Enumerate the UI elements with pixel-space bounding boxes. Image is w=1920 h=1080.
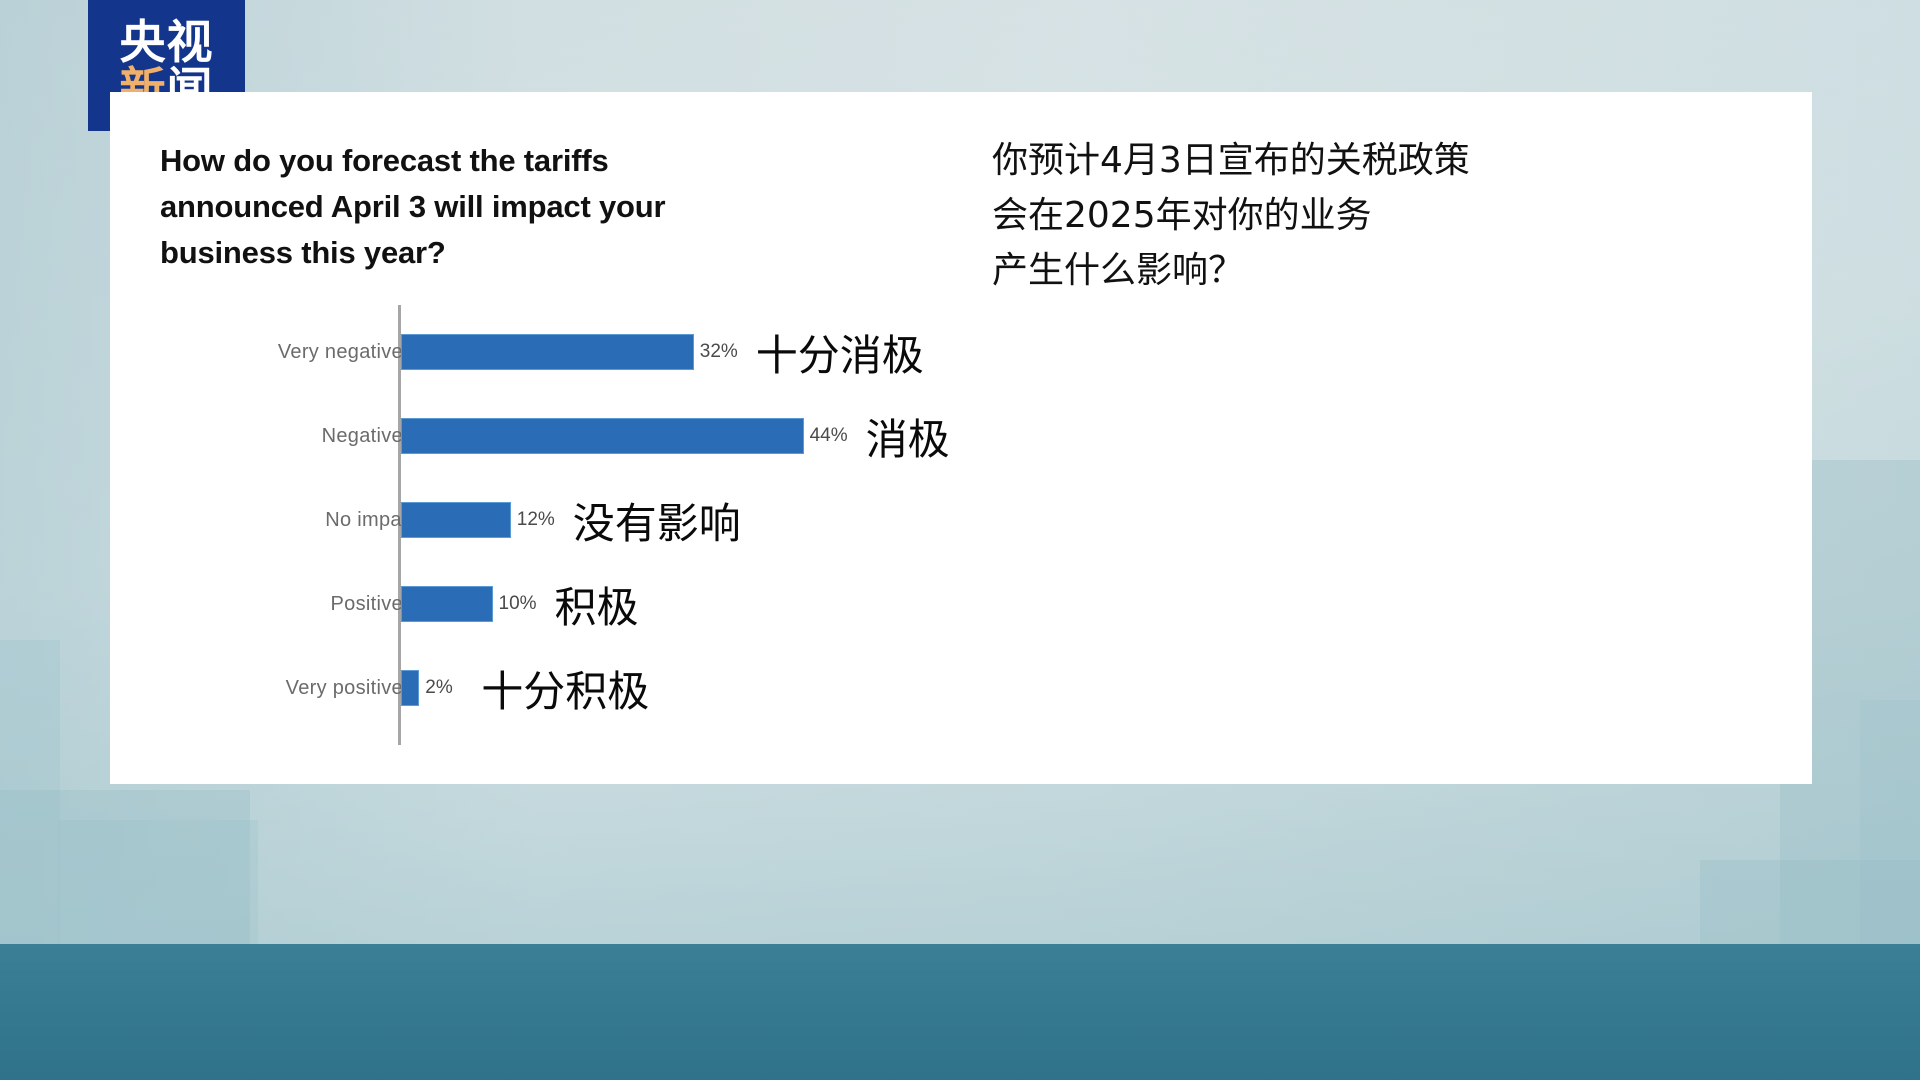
chart-row: No impact 12% 没有影响 bbox=[160, 494, 1160, 546]
chart-title-line-2: announced April 3 will impact your bbox=[160, 184, 760, 230]
chart-title: How do you forecast the tariffs announce… bbox=[160, 138, 760, 276]
chinese-question: 你预计4月3日宣布的关税政策 会在2025年对你的业务 产生什么影响？ bbox=[992, 133, 1692, 298]
background-water-band bbox=[0, 944, 1920, 1080]
chart-bar-value-label: 32% bbox=[700, 326, 738, 378]
chart-bar-value-label: 12% bbox=[517, 494, 555, 546]
chart-row: Negatively 44% 消极 bbox=[160, 410, 1160, 462]
chinese-question-line-1: 你预计4月3日宣布的关税政策 bbox=[992, 133, 1692, 188]
chart-category-label: Very negatively bbox=[278, 326, 418, 378]
chart-bar-value-label: 10% bbox=[499, 578, 537, 630]
chart-bar-value-label: 2% bbox=[425, 662, 452, 714]
chart-row: Very positively 2% 十分积极 bbox=[160, 662, 1160, 714]
chart-bar bbox=[401, 334, 694, 370]
chart-bar bbox=[401, 670, 419, 706]
chart-row: Very negatively 32% 十分消极 bbox=[160, 326, 1160, 378]
chart-category-label-cn: 没有影响 bbox=[573, 494, 741, 546]
chart-row: Positively 10% 积极 bbox=[160, 578, 1160, 630]
chart-bar bbox=[401, 418, 804, 454]
chart-bar bbox=[401, 586, 493, 622]
screenshot-stage: 央视 新闻 How do you forecast the tariffs an… bbox=[0, 0, 1920, 1080]
chart-bar-value-label: 44% bbox=[810, 410, 848, 462]
chinese-question-line-3: 产生什么影响？ bbox=[992, 243, 1692, 298]
chart-category-label-cn: 消极 bbox=[866, 410, 950, 462]
chart-category-label-cn: 十分消极 bbox=[756, 326, 924, 378]
chart-category-label-cn: 十分积极 bbox=[481, 662, 649, 714]
chart-category-label-cn: 积极 bbox=[555, 578, 639, 630]
chart-category-label: Very positively bbox=[286, 662, 418, 714]
chart-bar bbox=[401, 502, 511, 538]
chart-title-line-3: business this year? bbox=[160, 230, 760, 276]
logo-line-yangshi: 央视 bbox=[120, 19, 214, 66]
chinese-question-line-2: 会在2025年对你的业务 bbox=[992, 188, 1692, 243]
chart-title-line-1: How do you forecast the tariffs bbox=[160, 138, 760, 184]
horizontal-bar-chart: Very negatively 32% 十分消极 Negatively 44% … bbox=[160, 300, 1160, 760]
